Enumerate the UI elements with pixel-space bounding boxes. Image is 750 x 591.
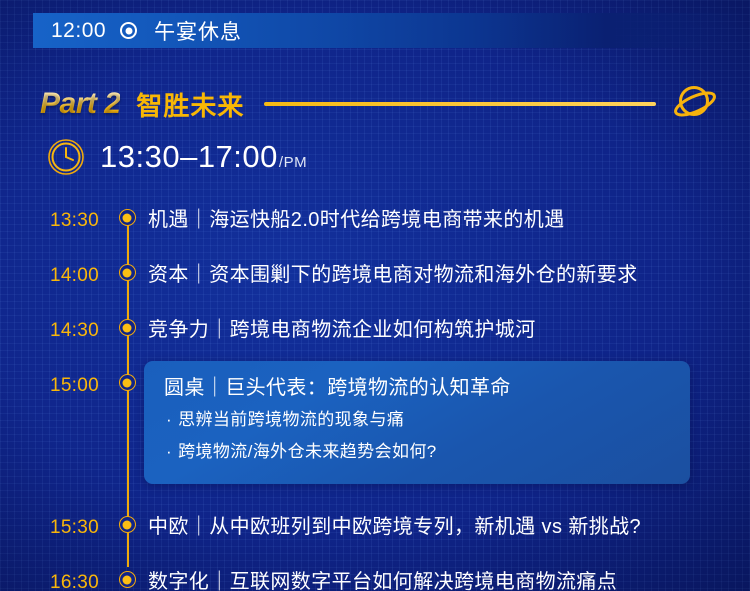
session-time-range-text: 13:30–17:00 bbox=[100, 139, 278, 174]
roundtable-card[interactable]: 圆桌｜巨头代表：跨境物流的认知革命 ·思辨当前跨境物流的现象与痛 ·跨境物流/海… bbox=[144, 361, 690, 484]
timeline-marker bbox=[110, 503, 144, 533]
lunch-break-label: 午宴休息 bbox=[154, 16, 242, 46]
timeline-row-body: 资本｜资本围剿下的跨境电商对物流和海外仓的新要求 bbox=[144, 251, 750, 290]
timeline-row-title: 竞争力｜跨境电商物流企业如何构筑护城河 bbox=[148, 316, 750, 345]
timeline-row-time: 14:30 bbox=[0, 306, 110, 344]
timeline-marker bbox=[110, 196, 144, 226]
session-meridiem: /PM bbox=[279, 154, 307, 171]
lunch-break-banner: 12:00 午宴休息 bbox=[33, 13, 750, 48]
roundtable-bullet-text: 思辨当前跨境物流的现象与痛 bbox=[178, 410, 404, 429]
timeline-row-time: 16:30 bbox=[0, 558, 110, 591]
timeline-row-body: 机遇｜海运快船2.0时代给跨境电商带来的机遇 bbox=[144, 196, 750, 235]
part-number: Part 2 bbox=[40, 87, 120, 121]
timeline-marker bbox=[110, 361, 144, 391]
timeline-row-body: 竞争力｜跨境电商物流企业如何构筑护城河 bbox=[144, 306, 750, 345]
timeline-dot-icon bbox=[119, 374, 136, 391]
timeline-row-title: 机遇｜海运快船2.0时代给跨境电商带来的机遇 bbox=[148, 206, 750, 235]
timeline-row-time: 13:30 bbox=[0, 196, 110, 234]
timeline-marker bbox=[110, 558, 144, 588]
timeline-row-title: 数字化｜互联网数字平台如何解决跨境电商物流痛点 bbox=[148, 568, 750, 591]
agenda-timeline: 13:30 机遇｜海运快船2.0时代给跨境电商带来的机遇 14:00 资本｜资本… bbox=[0, 196, 750, 591]
timeline-row-highlighted[interactable]: 15:00 圆桌｜巨头代表：跨境物流的认知革命 ·思辨当前跨境物流的现象与痛 ·… bbox=[0, 361, 750, 484]
bullet-mark-icon: · bbox=[166, 410, 172, 429]
timeline-row-body: 数字化｜互联网数字平台如何解决跨境电商物流痛点 bbox=[144, 558, 750, 591]
timeline-row-time: 15:30 bbox=[0, 503, 110, 541]
timeline-row[interactable]: 15:30 中欧｜从中欧班列到中欧跨境专列，新机遇 vs 新挑战? bbox=[0, 503, 750, 558]
timeline-marker bbox=[110, 251, 144, 281]
roundtable-bullet: ·跨境物流/海外仓未来趋势会如何? bbox=[164, 436, 670, 468]
timeline-row[interactable]: 14:30 竞争力｜跨境电商物流企业如何构筑护城河 bbox=[0, 306, 750, 361]
part-header: Part 2 智胜未来 bbox=[40, 82, 720, 126]
session-time-row: 13:30–17:00/PM bbox=[47, 138, 307, 176]
roundtable-title: 圆桌｜巨头代表：跨境物流的认知革命 bbox=[164, 373, 670, 404]
slide-canvas: 12:00 午宴休息 Part 2 智胜未来 13:30–17:00/PM bbox=[0, 0, 750, 591]
bullet-mark-icon: · bbox=[166, 442, 172, 461]
timeline-row-title: 中欧｜从中欧班列到中欧跨境专列，新机遇 vs 新挑战? bbox=[148, 513, 750, 542]
timeline-row-body: 圆桌｜巨头代表：跨境物流的认知革命 ·思辨当前跨境物流的现象与痛 ·跨境物流/海… bbox=[144, 361, 750, 484]
timeline-dot-icon bbox=[119, 264, 136, 281]
timeline-row-title: 资本｜资本围剿下的跨境电商对物流和海外仓的新要求 bbox=[148, 261, 750, 290]
planet-icon bbox=[672, 82, 720, 126]
part-title: 智胜未来 bbox=[136, 86, 244, 123]
target-dot-icon bbox=[120, 22, 137, 39]
roundtable-bullet-text: 跨境物流/海外仓未来趋势会如何? bbox=[178, 442, 437, 461]
roundtable-bullet: ·思辨当前跨境物流的现象与痛 bbox=[164, 404, 670, 436]
clock-icon bbox=[47, 138, 85, 176]
timeline-row-time: 15:00 bbox=[0, 361, 110, 399]
timeline-row[interactable]: 14:00 资本｜资本围剿下的跨境电商对物流和海外仓的新要求 bbox=[0, 251, 750, 306]
timeline-marker bbox=[110, 306, 144, 336]
lunch-break-time: 12:00 bbox=[51, 19, 106, 43]
timeline-row-body: 中欧｜从中欧班列到中欧跨境专列，新机遇 vs 新挑战? bbox=[144, 503, 750, 542]
timeline-dot-icon bbox=[119, 516, 136, 533]
timeline-row-time: 14:00 bbox=[0, 251, 110, 289]
timeline-row[interactable]: 16:30 数字化｜互联网数字平台如何解决跨境电商物流痛点 bbox=[0, 558, 750, 591]
session-time-range: 13:30–17:00/PM bbox=[100, 139, 307, 175]
timeline-dot-icon bbox=[119, 319, 136, 336]
timeline-row[interactable]: 13:30 机遇｜海运快船2.0时代给跨境电商带来的机遇 bbox=[0, 196, 750, 251]
timeline-dot-icon bbox=[119, 571, 136, 588]
header-divider-rule bbox=[264, 102, 656, 106]
timeline-dot-icon bbox=[119, 209, 136, 226]
